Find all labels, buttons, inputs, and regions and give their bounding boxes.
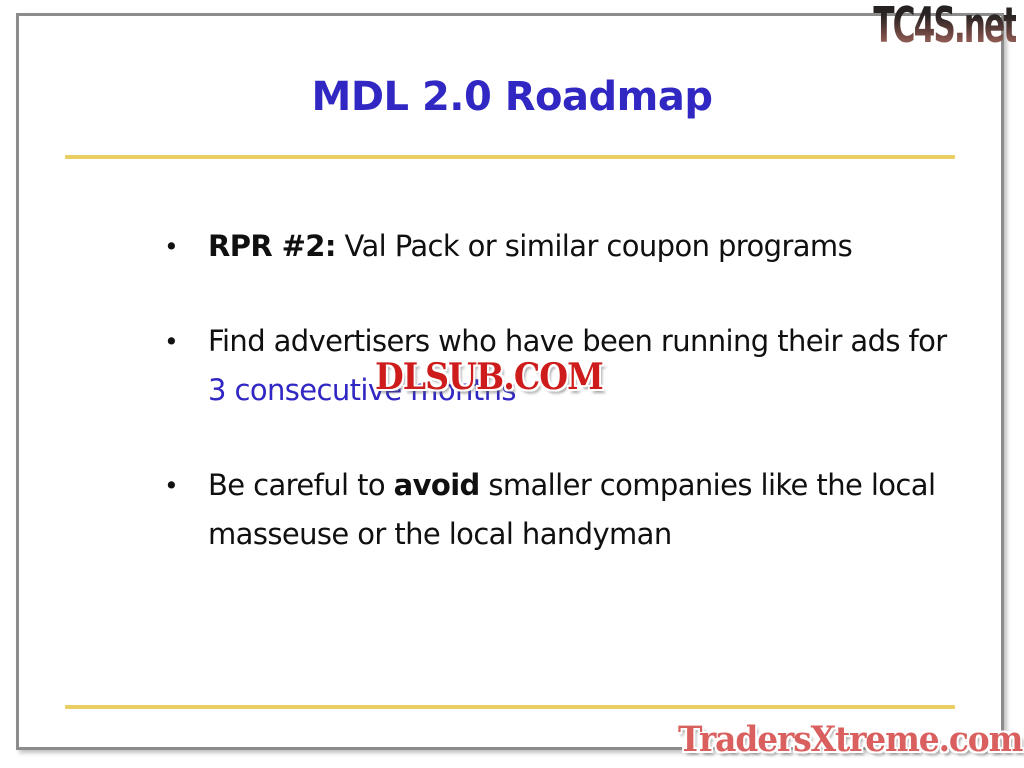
- divider-bottom: [65, 705, 955, 709]
- watermark-tc4s: TC4S.net: [873, 0, 1016, 54]
- bullet-1-segment-0: RPR #2:: [208, 229, 336, 263]
- divider-top: [65, 155, 955, 159]
- bullet-marker-icon: •: [158, 461, 208, 510]
- watermark-tradersxtreme: TradersXtreme.com: [678, 719, 1022, 760]
- page-title: MDL 2.0 Roadmap: [0, 74, 1024, 120]
- list-item: • RPR #2: Val Pack or similar coupon pro…: [158, 222, 948, 271]
- bullet-marker-icon: •: [158, 317, 208, 366]
- watermark-dlsub: DLSUB.COM: [375, 356, 603, 398]
- list-item-text: RPR #2: Val Pack or similar coupon progr…: [208, 222, 948, 271]
- bullet-3-segment-1: avoid: [394, 468, 480, 502]
- list-item: • Be careful to avoid smaller companies …: [158, 461, 948, 559]
- bullet-2-segment-0: Find advertisers who have been running t…: [208, 324, 947, 358]
- list-item-text: Be careful to avoid smaller companies li…: [208, 461, 948, 559]
- bullet-1-segment-1: Val Pack or similar coupon programs: [336, 229, 852, 263]
- bullet-3-segment-0: Be careful to: [208, 468, 394, 502]
- bullet-marker-icon: •: [158, 222, 208, 271]
- slide-canvas: MDL 2.0 Roadmap • RPR #2: Val Pack or si…: [0, 0, 1024, 768]
